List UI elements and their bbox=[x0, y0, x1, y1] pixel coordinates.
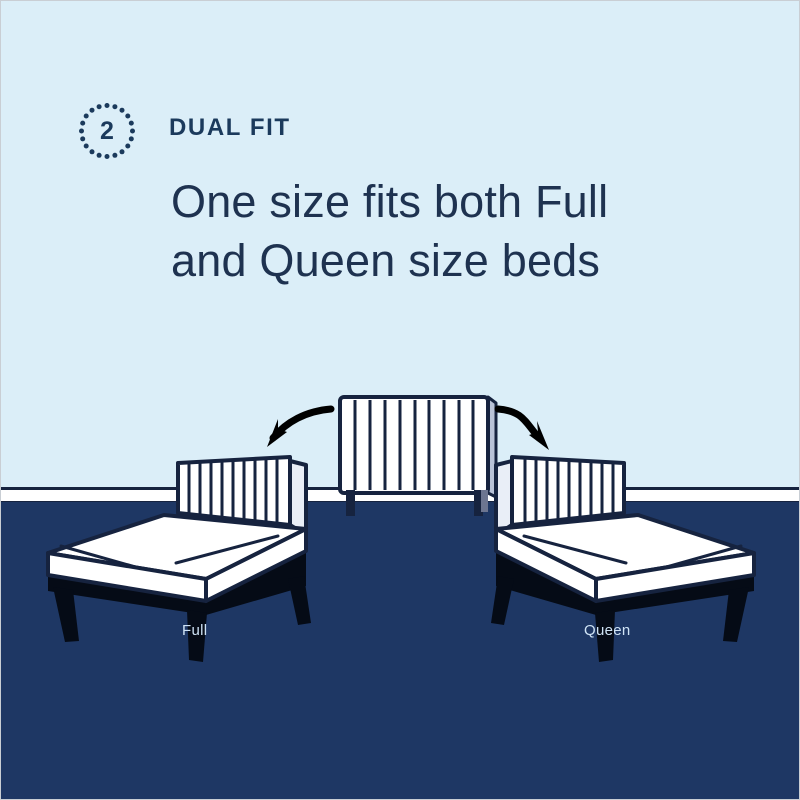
arrow-to-full-icon bbox=[267, 409, 331, 447]
bed-label-full: Full bbox=[182, 622, 207, 639]
bed-label-queen: Queen bbox=[584, 622, 631, 639]
infographic-canvas: 2 DUAL FIT One size fits both Full and Q… bbox=[0, 0, 800, 800]
bed-illustration bbox=[1, 1, 800, 800]
bed-full bbox=[48, 457, 311, 662]
arrow-to-queen-icon bbox=[498, 409, 549, 450]
center-headboard bbox=[340, 397, 496, 516]
